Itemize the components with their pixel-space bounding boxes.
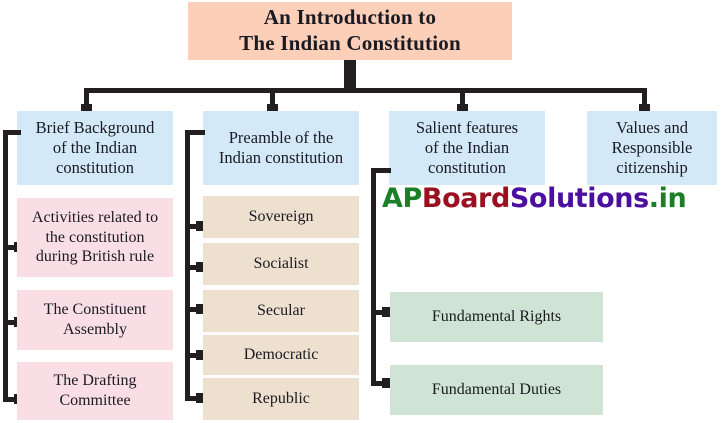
leaf-fundamental-rights: Fundamental Rights bbox=[390, 292, 603, 342]
branch-head-brief-background: Brief Background of the Indian constitut… bbox=[17, 111, 173, 185]
bracket-spine-col-1 bbox=[3, 130, 8, 402]
leaf-activities-british-rule: Activities related to the constitution d… bbox=[17, 198, 173, 277]
leaf-democratic: Democratic bbox=[203, 335, 359, 375]
branch-head-preamble: Preamble of the Indian constitution bbox=[203, 111, 359, 185]
leaf-republic: Republic bbox=[203, 378, 359, 420]
root-horizontal-connector bbox=[84, 88, 647, 93]
leaf-constituent-assembly: The Constituent Assembly bbox=[17, 290, 173, 350]
watermark-part-tld: .in bbox=[649, 183, 687, 214]
watermark-part-ap: AP bbox=[382, 183, 422, 214]
branch-head-values-citizenship: Values and Responsible citizenship bbox=[587, 111, 717, 185]
watermark-apboardsolutions: APBoardSolutions.in bbox=[382, 183, 686, 214]
diagram-canvas: An Introduction to The Indian Constituti… bbox=[0, 0, 724, 423]
leaf-sovereign: Sovereign bbox=[203, 196, 359, 238]
watermark-part-solutions: Solutions bbox=[510, 183, 649, 214]
branch-head-salient-features: Salient features of the Indian constitut… bbox=[389, 111, 545, 185]
leaf-drafting-committee: The Drafting Committee bbox=[17, 362, 173, 420]
leaf-socialist: Socialist bbox=[203, 243, 359, 285]
leaf-secular: Secular bbox=[203, 290, 359, 332]
root-stem-connector bbox=[344, 60, 356, 90]
bracket-spine-col-3 bbox=[371, 168, 376, 386]
leaf-fundamental-duties: Fundamental Duties bbox=[390, 365, 603, 415]
root-title-box: An Introduction to The Indian Constituti… bbox=[188, 2, 512, 60]
watermark-part-board: Board bbox=[422, 183, 510, 214]
